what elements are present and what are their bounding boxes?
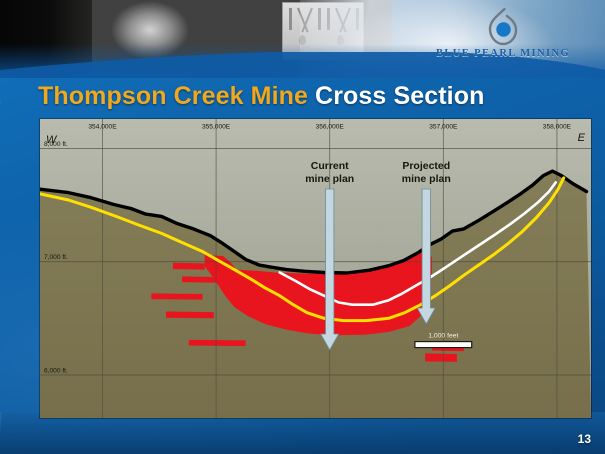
y-axis-tick-label: 6,000 ft. xyxy=(44,367,68,374)
east-orientation-label: E xyxy=(578,132,586,144)
slide: BLUE PEARL MINING Thompson Creek Mine Cr… xyxy=(0,0,605,454)
ore-body-lobe xyxy=(425,353,457,362)
x-axis-tick-label: 356,000E xyxy=(316,124,345,131)
ore-body-lobe xyxy=(182,276,216,282)
cross-section-svg: 354,000E355,000E356,000E357,000E358,000E… xyxy=(40,119,591,418)
annotation-title: Current xyxy=(311,160,349,172)
x-axis-tick-label: 355,000E xyxy=(202,124,231,131)
x-axis-tick-label: 357,000E xyxy=(429,124,458,131)
page-number: 13 xyxy=(578,432,591,446)
pearl-flame-icon xyxy=(485,8,521,46)
annotation-subtitle: mine plan xyxy=(305,173,354,185)
scale-bar xyxy=(415,342,472,348)
background-bottom-band xyxy=(0,412,605,454)
ore-body-lobe xyxy=(166,312,214,319)
brand-logo: BLUE PEARL MINING xyxy=(423,8,583,66)
page-title: Thompson Creek Mine Cross Section xyxy=(38,82,484,111)
west-orientation-label: W xyxy=(46,134,58,146)
scale-bar-label: 1,000 feet xyxy=(428,333,458,340)
x-axis-tick-label: 354,000E xyxy=(88,124,117,131)
ore-body-lobe xyxy=(151,293,202,299)
annotation-subtitle: mine plan xyxy=(402,173,451,185)
brand-name: BLUE PEARL MINING xyxy=(423,48,583,59)
ore-body-lobe xyxy=(189,340,246,346)
title-primary: Thompson Creek Mine xyxy=(38,82,308,110)
ore-body-lobe xyxy=(173,263,205,270)
title-secondary: Cross Section xyxy=(315,82,484,110)
cross-section-chart: 354,000E355,000E356,000E357,000E358,000E… xyxy=(40,119,591,418)
y-axis-tick-label: 7,000 ft. xyxy=(44,254,68,261)
x-axis-tick-label: 358,000E xyxy=(543,124,572,131)
annotation-title: Projected xyxy=(402,160,450,172)
